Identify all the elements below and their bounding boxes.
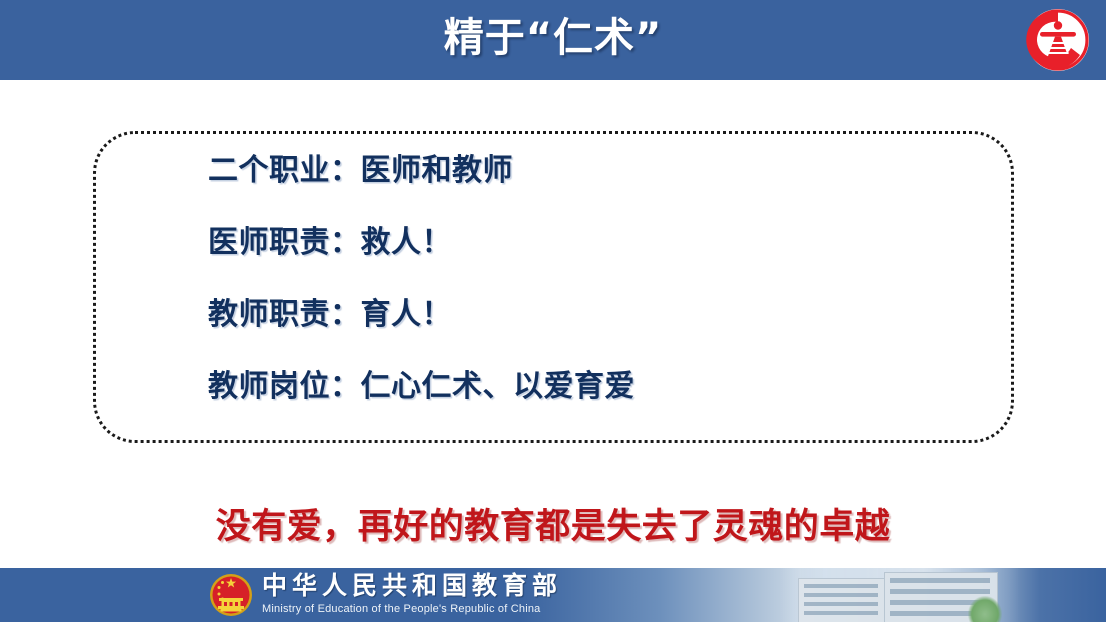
ministry-name-en: Ministry of Education of the People's Re… (262, 602, 540, 616)
ministry-name-cn: 中华人民共和国教育部 (262, 572, 562, 600)
content-line: 医师职责：救人！ (208, 220, 998, 292)
content-line: 二个职业：医师和教师 (208, 148, 998, 220)
content-line: 教师职责：育人！ (208, 292, 998, 364)
content-line-list: 二个职业：医师和教师 医师职责：救人！ 教师职责：育人！ 教师岗位：仁心仁术、以… (208, 148, 998, 436)
emphasis-statement: 没有爱，再好的教育都是失去了灵魂的卓越 (0, 498, 1106, 549)
window-row (804, 611, 878, 615)
china-national-emblem (208, 572, 254, 618)
footer-bar: 中华人民共和国教育部 Ministry of Education of the … (0, 568, 1106, 622)
page-title: 精于“仁术” (0, 0, 1106, 80)
slide: 精于“仁术” 二个职业：医师和教师 医师职责：救人！ 教师职责：育人！ 教师岗位… (0, 0, 1106, 622)
ministry-building-photo (780, 568, 1020, 622)
window-row (804, 602, 878, 606)
pagoda-figure-logo (1024, 6, 1092, 74)
window-row (890, 589, 990, 594)
window-row (804, 584, 878, 588)
content-line: 教师岗位：仁心仁术、以爱育爱 (208, 364, 998, 436)
window-row (890, 578, 990, 583)
window-row (804, 593, 878, 597)
tree (968, 596, 1002, 622)
